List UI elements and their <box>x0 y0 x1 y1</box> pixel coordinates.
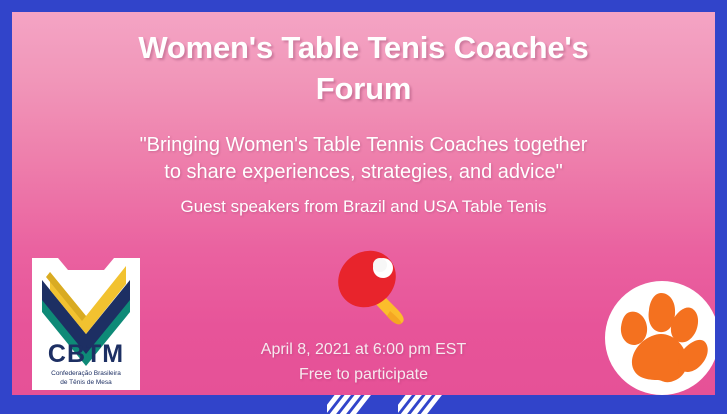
tagline-quote-line-2: to share experiences, strategies, and ad… <box>12 159 715 186</box>
tiger-paw-icon <box>604 280 715 395</box>
tagline-quote: "Bringing Women's Table Tennis Coaches t… <box>12 132 715 185</box>
speakers-line: Guest speakers from Brazil and USA Table… <box>12 196 715 218</box>
diagonal-stripes-left-icon <box>327 392 373 414</box>
page-title: Women's Table Tenis Coache's Forum <box>12 28 715 110</box>
page-title-line-1: Women's Table Tenis Coache's <box>12 28 715 69</box>
tagline-quote-line-1: "Bringing Women's Table Tennis Coaches t… <box>12 132 715 159</box>
poster-inner-panel: Women's Table Tenis Coache's Forum "Brin… <box>12 12 715 395</box>
event-poster: Women's Table Tenis Coache's Forum "Brin… <box>0 0 727 414</box>
page-title-line-2: Forum <box>12 69 715 110</box>
ping-pong-paddle-icon <box>335 249 421 327</box>
diagonal-stripes-right-icon <box>398 392 444 414</box>
